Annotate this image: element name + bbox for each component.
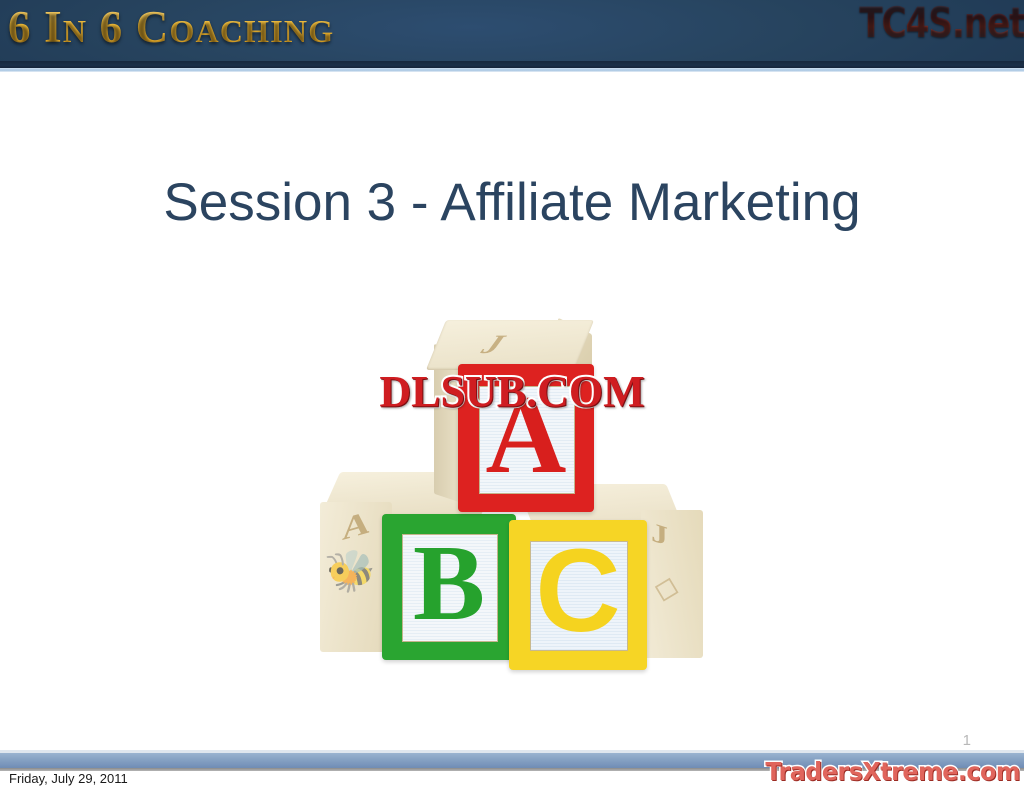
block-c-letter: C: [509, 520, 647, 670]
block-a: J A: [430, 320, 595, 520]
block-a-top-face: J: [426, 320, 594, 370]
engraved-top-j-icon: J: [473, 330, 512, 360]
block-c-right-face: J ◇: [641, 510, 703, 658]
header-banner: 6 In 6 Coaching TC4S.net: [0, 0, 1024, 68]
engraved-kite-icon: ◇: [651, 566, 684, 609]
tc4s-logo: TC4S.net: [859, 0, 1024, 47]
tradersxtreme-logo: TradersXtreme.com: [765, 757, 1020, 786]
engraved-a-icon: A: [342, 503, 369, 548]
block-c-front-face: C: [509, 520, 647, 670]
brand-title: 6 In 6 Coaching: [8, 2, 334, 54]
page-number: 1: [963, 732, 971, 749]
slide-canvas: 6 In 6 Coaching TC4S.net Session 3 - Aff…: [0, 0, 1024, 788]
page-title: Session 3 - Affiliate Marketing: [0, 172, 1024, 233]
engraved-j-icon: J: [651, 517, 668, 553]
block-a-front-face: A: [458, 364, 594, 512]
abc-blocks-image: A 🐝 B J ◇ C J: [310, 312, 710, 712]
engraved-bee-icon: 🐝: [323, 545, 379, 598]
footer-date: Friday, July 29, 2011: [9, 771, 128, 786]
block-a-letter: A: [458, 364, 594, 512]
header-divider: [0, 72, 1024, 74]
